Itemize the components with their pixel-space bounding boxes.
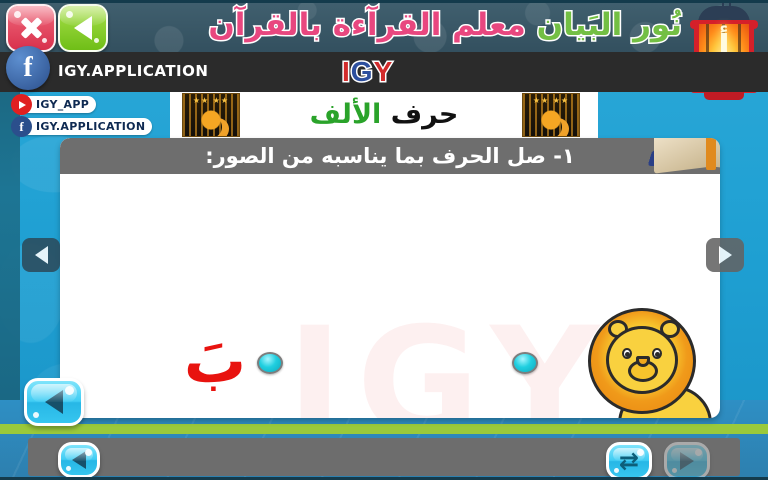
chevron-left-icon	[35, 246, 48, 264]
page-prev-side-button[interactable]	[22, 238, 60, 272]
app-title-green: نُور البَيان	[537, 7, 682, 43]
facebook-icon: f	[11, 116, 32, 137]
connector-node-left-1[interactable]	[257, 352, 283, 374]
background-green-band	[0, 424, 768, 434]
facebook-icon[interactable]: f	[6, 46, 50, 90]
youtube-badge-label: IGY_APP	[36, 98, 89, 111]
youtube-icon	[11, 94, 32, 115]
toolbar-previous-button[interactable]	[58, 442, 100, 478]
lesson-title-word: حرف	[391, 99, 459, 130]
app-title: نُور البَيان معلم القرآءة بالقرآن	[208, 2, 682, 50]
book-icon	[650, 138, 720, 176]
close-button[interactable]	[6, 4, 56, 52]
app-header: نُور البَيان معلم القرآءة بالقرآن	[0, 0, 768, 52]
facebook-page-name: IGY.APPLICATION	[58, 62, 208, 80]
ornament-right-icon	[522, 93, 580, 137]
page-next-side-button[interactable]	[706, 238, 744, 272]
ornament-left-icon	[182, 93, 240, 137]
toolbar-next-button[interactable]	[664, 442, 710, 480]
logo-letter-y: Y	[374, 56, 394, 87]
connector-node-right-1[interactable]	[512, 352, 538, 374]
frame-top-edge	[0, 0, 768, 3]
letter-ba[interactable]: بَ	[170, 330, 260, 392]
instruction-bar: ١- صل الحرف بما يناسبه من الصور:	[60, 138, 720, 174]
facebook-badge-label: IGY.APPLICATION	[36, 120, 145, 133]
logo-letter-g: G	[351, 56, 374, 87]
lesson-title-letter: الألف	[310, 99, 382, 130]
app-root: نُور البَيان معلم القرآءة بالقرآن أ f IG…	[0, 0, 768, 480]
chevron-right-icon	[719, 246, 732, 264]
facebook-badge[interactable]: f IGY.APPLICATION	[14, 118, 152, 135]
youtube-badge[interactable]: IGY_APP	[14, 96, 96, 113]
lion-image[interactable]	[570, 308, 720, 418]
exercise-card: ١- صل الحرف بما يناسبه من الصور: IGY بَ …	[60, 138, 720, 418]
app-title-pink: معلم القرآءة بالقرآن	[208, 7, 525, 43]
toolbar-repeat-button[interactable]: ⇄	[606, 442, 652, 480]
logo-letter-i: I	[342, 56, 351, 87]
igy-logo: IGY	[342, 56, 393, 88]
back-button[interactable]	[58, 4, 108, 52]
previous-button-large[interactable]	[24, 378, 84, 426]
